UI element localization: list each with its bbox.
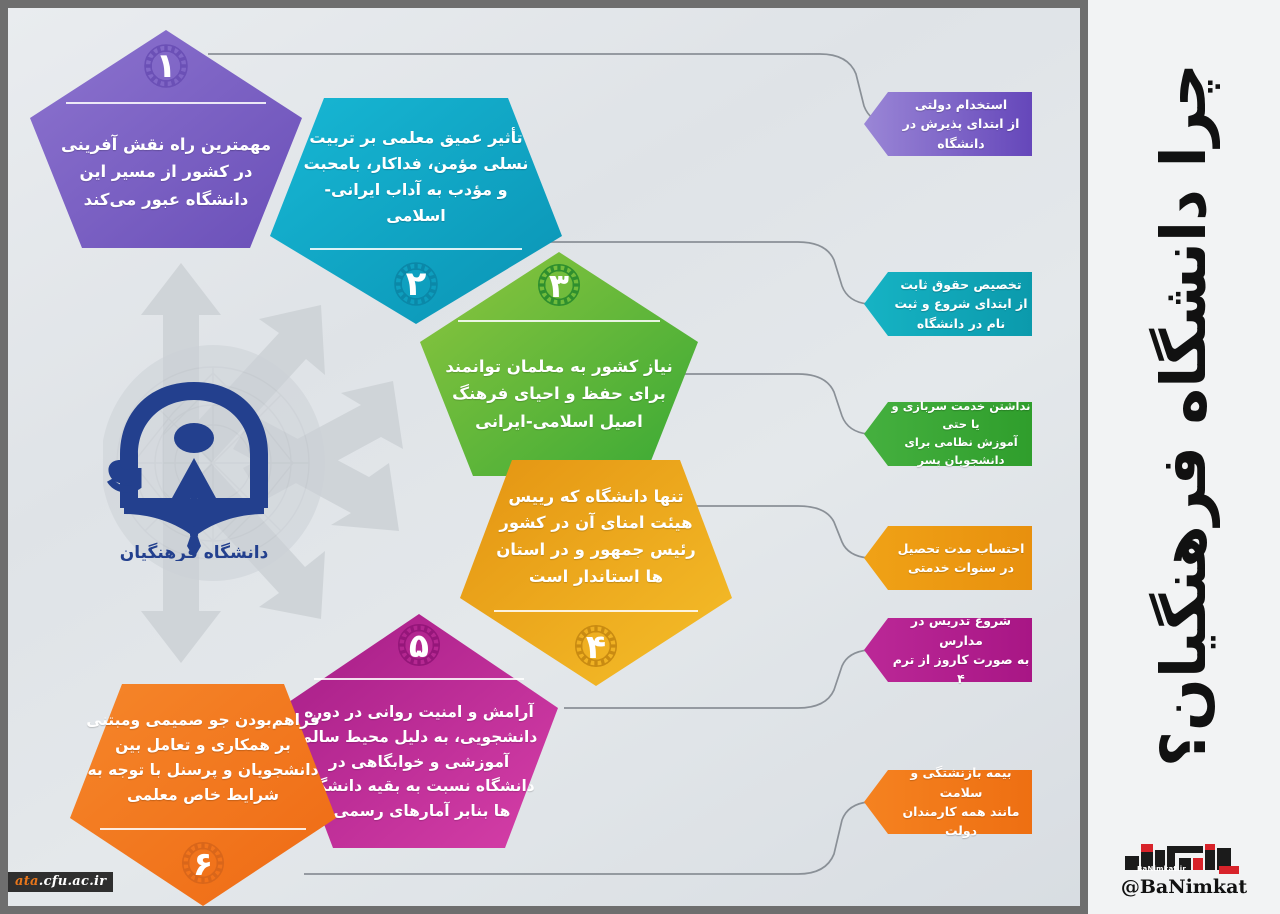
pentagon-2-number: ۲ (406, 264, 427, 304)
banner-3-text: نداشتن خدمت سربازی و یا حتی آموزش نظامی … (864, 402, 1032, 466)
pentagon-2-divider (310, 248, 522, 250)
banner-1-line1: استخدام دولتی (915, 95, 1007, 114)
pentagon-6-number: ۶ (193, 844, 213, 883)
pentagon-3-text: نیاز کشور به معلمان توانمند برای حفظ و ا… (420, 328, 698, 460)
farhangian-university-logo: دانشگاه فرهنگیان (104, 376, 284, 561)
banimkat-wordmark-icon: BaNimkat.ir (1125, 844, 1243, 874)
pentagon-3-divider (458, 320, 660, 322)
publisher-logo[interactable]: BaNimkat.ir @BaNimkat (1088, 832, 1280, 910)
banner-2-line2: از ابتدای شروع و ثبت نام در دانشگاه (890, 294, 1032, 333)
banner-3-line2: آموزش نظامی برای دانشجویان پسر (890, 434, 1032, 470)
banner-5-line2: به صورت کاروز از ترم ۴ (890, 650, 1032, 689)
pentagon-3-number-badge: ۳ (420, 258, 698, 312)
banner-6-line2: مانند همه کارمندان دولت (890, 802, 1032, 841)
banner-6[interactable]: بیمه بازنشتگی و سلامت مانند همه کارمندان… (864, 770, 1032, 834)
banner-1[interactable]: استخدام دولتی از ابتدای پذیرش در دانشگاه (864, 92, 1032, 156)
banner-2-line1: تخصیص حقوق ثابت (900, 275, 1021, 294)
banner-6-line1: بیمه بازنشتگی و سلامت (890, 763, 1032, 802)
banner-5-text: شروع تدریس در مدارس به صورت کاروز از ترم… (864, 618, 1032, 682)
banimkat-domain: BaNimkat.ir (1137, 865, 1186, 873)
pentagon-1-divider (66, 102, 266, 104)
pentagon-1[interactable]: ۱ مهمترین راه نقش آفرینی در کشور از مسیر… (30, 30, 302, 248)
pentagon-5-divider (314, 678, 524, 680)
banner-4[interactable]: احتساب مدت تحصیل در سنوات خدمتی (864, 526, 1032, 590)
watermark-suffix: .cfu.ac.ir (39, 874, 107, 889)
pentagon-3[interactable]: ۳ نیاز کشور به معلمان توانمند برای حفظ و… (420, 252, 698, 476)
pentagon-4-text: تنها دانشگاه که رییس هیئت امنای آن در کش… (460, 470, 732, 604)
pentagon-4-divider (494, 610, 698, 612)
banner-1-text: استخدام دولتی از ابتدای پذیرش در دانشگاه (864, 92, 1032, 156)
banner-6-text: بیمه بازنشتگی و سلامت مانند همه کارمندان… (864, 770, 1032, 834)
banner-3-line1: نداشتن خدمت سربازی و یا حتی (890, 398, 1032, 434)
infographic-root: دانشگاه فرهنگیان (0, 0, 1280, 914)
page-title: چرا دانشگاه فرهنگیان؟ (1088, 0, 1280, 830)
banner-5-line1: شروع تدریس در مدارس (890, 611, 1032, 650)
banner-1-line2: از ابتدای پذیرش در دانشگاه (890, 114, 1032, 153)
watermark-prefix: ata (15, 874, 39, 889)
banner-5[interactable]: شروع تدریس در مدارس به صورت کاروز از ترم… (864, 618, 1032, 682)
source-watermark: ata.cfu.ac.ir (8, 872, 113, 892)
pentagon-6-text: فراهم‌بودن جو صمیمی ومبتنی بر همکاری و ت… (70, 696, 336, 820)
pentagon-4-number: ۴ (586, 627, 606, 666)
main-panel: دانشگاه فرهنگیان (8, 8, 1080, 906)
banner-4-text: احتساب مدت تحصیل در سنوات خدمتی (864, 526, 1032, 590)
banner-4-line2: در سنوات خدمتی (908, 558, 1014, 577)
pentagon-5-number: ۵ (409, 626, 429, 665)
pentagon-5-number-badge: ۵ (280, 618, 558, 672)
pentagon-2-text: تأثیر عمیق معلمی بر تربیت نسلی مؤمن، فدا… (270, 114, 562, 240)
page-title-text: چرا دانشگاه فرهنگیان؟ (1153, 63, 1215, 767)
banner-2[interactable]: تخصیص حقوق ثابت از ابتدای شروع و ثبت نام… (864, 272, 1032, 336)
logo-caption: دانشگاه فرهنگیان (120, 542, 269, 561)
banner-4-line1: احتساب مدت تحصیل (898, 539, 1025, 558)
banner-2-text: تخصیص حقوق ثابت از ابتدای شروع و ثبت نام… (864, 272, 1032, 336)
pentagon-3-number: ۳ (549, 266, 569, 305)
pentagon-1-text: مهمترین راه نقش آفرینی در کشور از مسیر ا… (30, 110, 302, 234)
pentagon-1-number-badge: ۱ (30, 38, 302, 94)
banner-3[interactable]: نداشتن خدمت سربازی و یا حتی آموزش نظامی … (864, 402, 1032, 466)
pentagon-1-number: ۱ (156, 46, 177, 86)
pentagon-6-divider (100, 828, 306, 830)
banimkat-handle: @BaNimkat (1121, 876, 1247, 898)
